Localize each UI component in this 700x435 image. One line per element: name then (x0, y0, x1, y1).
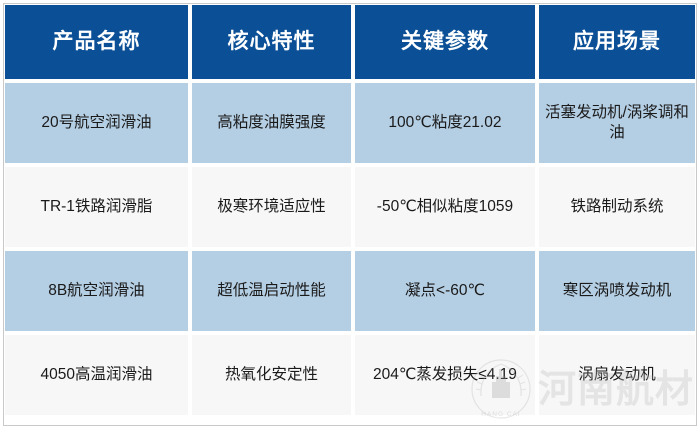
column-header-core-feature: 核心特性 (192, 5, 351, 79)
table-row: 20号航空润滑油 高粘度油膜强度 100℃粘度21.02 活塞发动机/涡桨调和油 (5, 83, 695, 163)
cell-core-feature: 极寒环境适应性 (192, 167, 351, 247)
column-header-application-scenario: 应用场景 (539, 5, 695, 79)
cell-application-scenario: 寒区涡喷发动机 (539, 251, 695, 331)
cell-product-name: 20号航空润滑油 (5, 83, 188, 163)
table-header-row: 产品名称 核心特性 关键参数 应用场景 (5, 5, 695, 79)
table-row: TR-1铁路润滑脂 极寒环境适应性 -50℃相似粘度1059 铁路制动系统 (5, 167, 695, 247)
cell-application-scenario: 涡扇发动机 (539, 335, 695, 415)
cell-product-name: TR-1铁路润滑脂 (5, 167, 188, 247)
cell-key-parameter: -50℃相似粘度1059 (355, 167, 535, 247)
cell-core-feature: 高粘度油膜强度 (192, 83, 351, 163)
column-header-product-name: 产品名称 (5, 5, 188, 79)
table-row: 4050高温润滑油 热氧化安定性 204℃蒸发损失≤4.19 涡扇发动机 (5, 335, 695, 415)
table-row: 8B航空润滑油 超低温启动性能 凝点<-60℃ 寒区涡喷发动机 (5, 251, 695, 331)
cell-application-scenario: 活塞发动机/涡桨调和油 (539, 83, 695, 163)
cell-application-scenario: 铁路制动系统 (539, 167, 695, 247)
cell-key-parameter: 204℃蒸发损失≤4.19 (355, 335, 535, 415)
cell-product-name: 8B航空润滑油 (5, 251, 188, 331)
cell-product-name: 4050高温润滑油 (5, 335, 188, 415)
column-header-key-parameter: 关键参数 (355, 5, 535, 79)
page-root: 产品名称 核心特性 关键参数 应用场景 20号航空润滑油 高粘度油膜强度 100… (0, 0, 700, 435)
cell-key-parameter: 100℃粘度21.02 (355, 83, 535, 163)
cell-core-feature: 热氧化安定性 (192, 335, 351, 415)
comparison-table: 产品名称 核心特性 关键参数 应用场景 20号航空润滑油 高粘度油膜强度 100… (4, 4, 696, 425)
comparison-table-frame: 产品名称 核心特性 关键参数 应用场景 20号航空润滑油 高粘度油膜强度 100… (3, 3, 697, 426)
cell-core-feature: 超低温启动性能 (192, 251, 351, 331)
cell-key-parameter: 凝点<-60℃ (355, 251, 535, 331)
